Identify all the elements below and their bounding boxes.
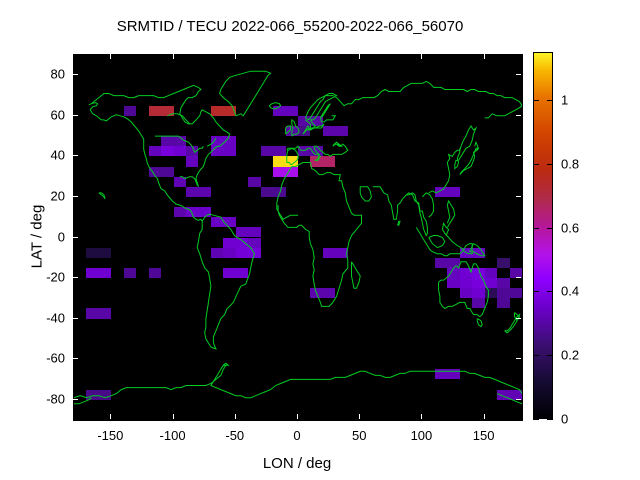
coastline-path bbox=[460, 148, 479, 174]
coastline-path bbox=[422, 193, 433, 217]
x-tick-mark bbox=[359, 54, 360, 59]
coastline-path bbox=[447, 201, 455, 227]
coastline-path bbox=[429, 126, 476, 193]
figure-title: SRMTID / TECU 2022-066_55200-2022-066_56… bbox=[0, 18, 580, 35]
colorbar-tick-mark bbox=[533, 355, 539, 356]
y-tick-mark bbox=[73, 74, 78, 75]
y-tick-mark bbox=[73, 155, 78, 156]
y-tick-mark bbox=[516, 196, 521, 197]
colorbar-tick-label: 0.4 bbox=[561, 284, 601, 299]
y-tick-mark bbox=[516, 358, 521, 359]
coastline-path bbox=[223, 363, 228, 365]
x-tick-label: 100 bbox=[391, 428, 451, 443]
y-tick-mark bbox=[516, 115, 521, 116]
y-tick-label: 60 bbox=[21, 107, 65, 122]
colorbar-tick-label: 1 bbox=[561, 92, 601, 107]
x-tick-mark bbox=[421, 414, 422, 419]
colorbar-tick-mark bbox=[547, 164, 553, 165]
coastline-path bbox=[477, 319, 482, 327]
x-tick-label: -50 bbox=[205, 428, 265, 443]
colorbar-tick-mark bbox=[533, 291, 539, 292]
coastline-path bbox=[287, 148, 298, 164]
map-plot-area[interactable] bbox=[73, 54, 523, 421]
x-tick-label: -100 bbox=[143, 428, 203, 443]
colorbar-tick-label: 0.8 bbox=[561, 156, 601, 171]
coastline-path bbox=[74, 365, 522, 397]
colorbar[interactable] bbox=[533, 52, 553, 419]
coastline-path bbox=[439, 262, 489, 317]
coastline-overlay bbox=[74, 55, 522, 420]
colorbar-tick-mark bbox=[533, 228, 539, 229]
coastline-path bbox=[352, 262, 361, 288]
x-tick-mark bbox=[173, 54, 174, 59]
colorbar-tick-mark bbox=[547, 100, 553, 101]
y-tick-mark bbox=[73, 358, 78, 359]
coastline-path bbox=[373, 187, 428, 236]
x-tick-mark bbox=[110, 54, 111, 59]
colorbar-tick-mark bbox=[547, 419, 553, 420]
coastline-path bbox=[292, 120, 299, 136]
coastline-path bbox=[320, 104, 330, 118]
x-tick-mark bbox=[110, 414, 111, 419]
coastline-path bbox=[306, 81, 523, 128]
y-tick-mark bbox=[516, 318, 521, 319]
x-tick-mark bbox=[297, 54, 298, 59]
colorbar-tick-mark bbox=[547, 228, 553, 229]
coastline-path bbox=[286, 126, 291, 134]
figure-root: SRMTID / TECU 2022-066_55200-2022-066_56… bbox=[0, 0, 640, 480]
y-tick-mark bbox=[73, 399, 78, 400]
x-tick-mark bbox=[235, 54, 236, 59]
coastline-path bbox=[277, 163, 362, 307]
y-tick-mark bbox=[516, 237, 521, 238]
colorbar-tick-mark bbox=[533, 419, 539, 420]
y-tick-mark bbox=[73, 196, 78, 197]
x-tick-label: 50 bbox=[329, 428, 389, 443]
coastline-path bbox=[89, 103, 255, 349]
coastline-path bbox=[320, 116, 335, 122]
x-tick-mark bbox=[421, 54, 422, 59]
coastline-path bbox=[398, 221, 400, 225]
colorbar-gradient bbox=[534, 53, 552, 418]
x-tick-mark bbox=[173, 414, 174, 419]
colorbar-tick-mark bbox=[533, 164, 539, 165]
x-tick-mark bbox=[235, 414, 236, 419]
y-tick-mark bbox=[516, 155, 521, 156]
x-tick-mark bbox=[484, 414, 485, 419]
y-tick-mark bbox=[516, 74, 521, 75]
x-axis-title: LON / deg bbox=[73, 455, 521, 472]
y-tick-mark bbox=[73, 318, 78, 319]
colorbar-tick-label: 0 bbox=[561, 412, 601, 427]
x-tick-mark bbox=[484, 54, 485, 59]
colorbar-tick-label: 0.6 bbox=[561, 220, 601, 235]
coastline-path bbox=[269, 103, 280, 109]
colorbar-tick-mark bbox=[533, 100, 539, 101]
coastline-path bbox=[155, 136, 204, 152]
coastline-path bbox=[220, 71, 271, 116]
y-axis-title: LAT / deg bbox=[29, 127, 46, 347]
x-tick-mark bbox=[297, 414, 298, 419]
x-tick-label: 150 bbox=[454, 428, 514, 443]
coastline-path bbox=[207, 138, 216, 146]
y-tick-label: -60 bbox=[21, 351, 65, 366]
x-tick-label: 0 bbox=[267, 428, 327, 443]
x-tick-mark bbox=[359, 414, 360, 419]
colorbar-tick-mark bbox=[547, 291, 553, 292]
x-tick-label: -150 bbox=[80, 428, 140, 443]
coastline-path bbox=[429, 236, 445, 248]
y-tick-mark bbox=[73, 115, 78, 116]
coastline-path bbox=[416, 223, 472, 256]
y-tick-mark bbox=[516, 277, 521, 278]
y-tick-mark bbox=[73, 277, 78, 278]
colorbar-tick-label: 0.2 bbox=[561, 348, 601, 363]
y-tick-mark bbox=[73, 237, 78, 238]
y-tick-label: 80 bbox=[21, 67, 65, 82]
coastline-path bbox=[99, 193, 105, 199]
colorbar-tick-mark bbox=[547, 355, 553, 356]
coastline-path bbox=[360, 187, 371, 201]
coastline-path bbox=[180, 177, 199, 186]
y-tick-mark bbox=[516, 399, 521, 400]
y-tick-label: -80 bbox=[21, 391, 65, 406]
